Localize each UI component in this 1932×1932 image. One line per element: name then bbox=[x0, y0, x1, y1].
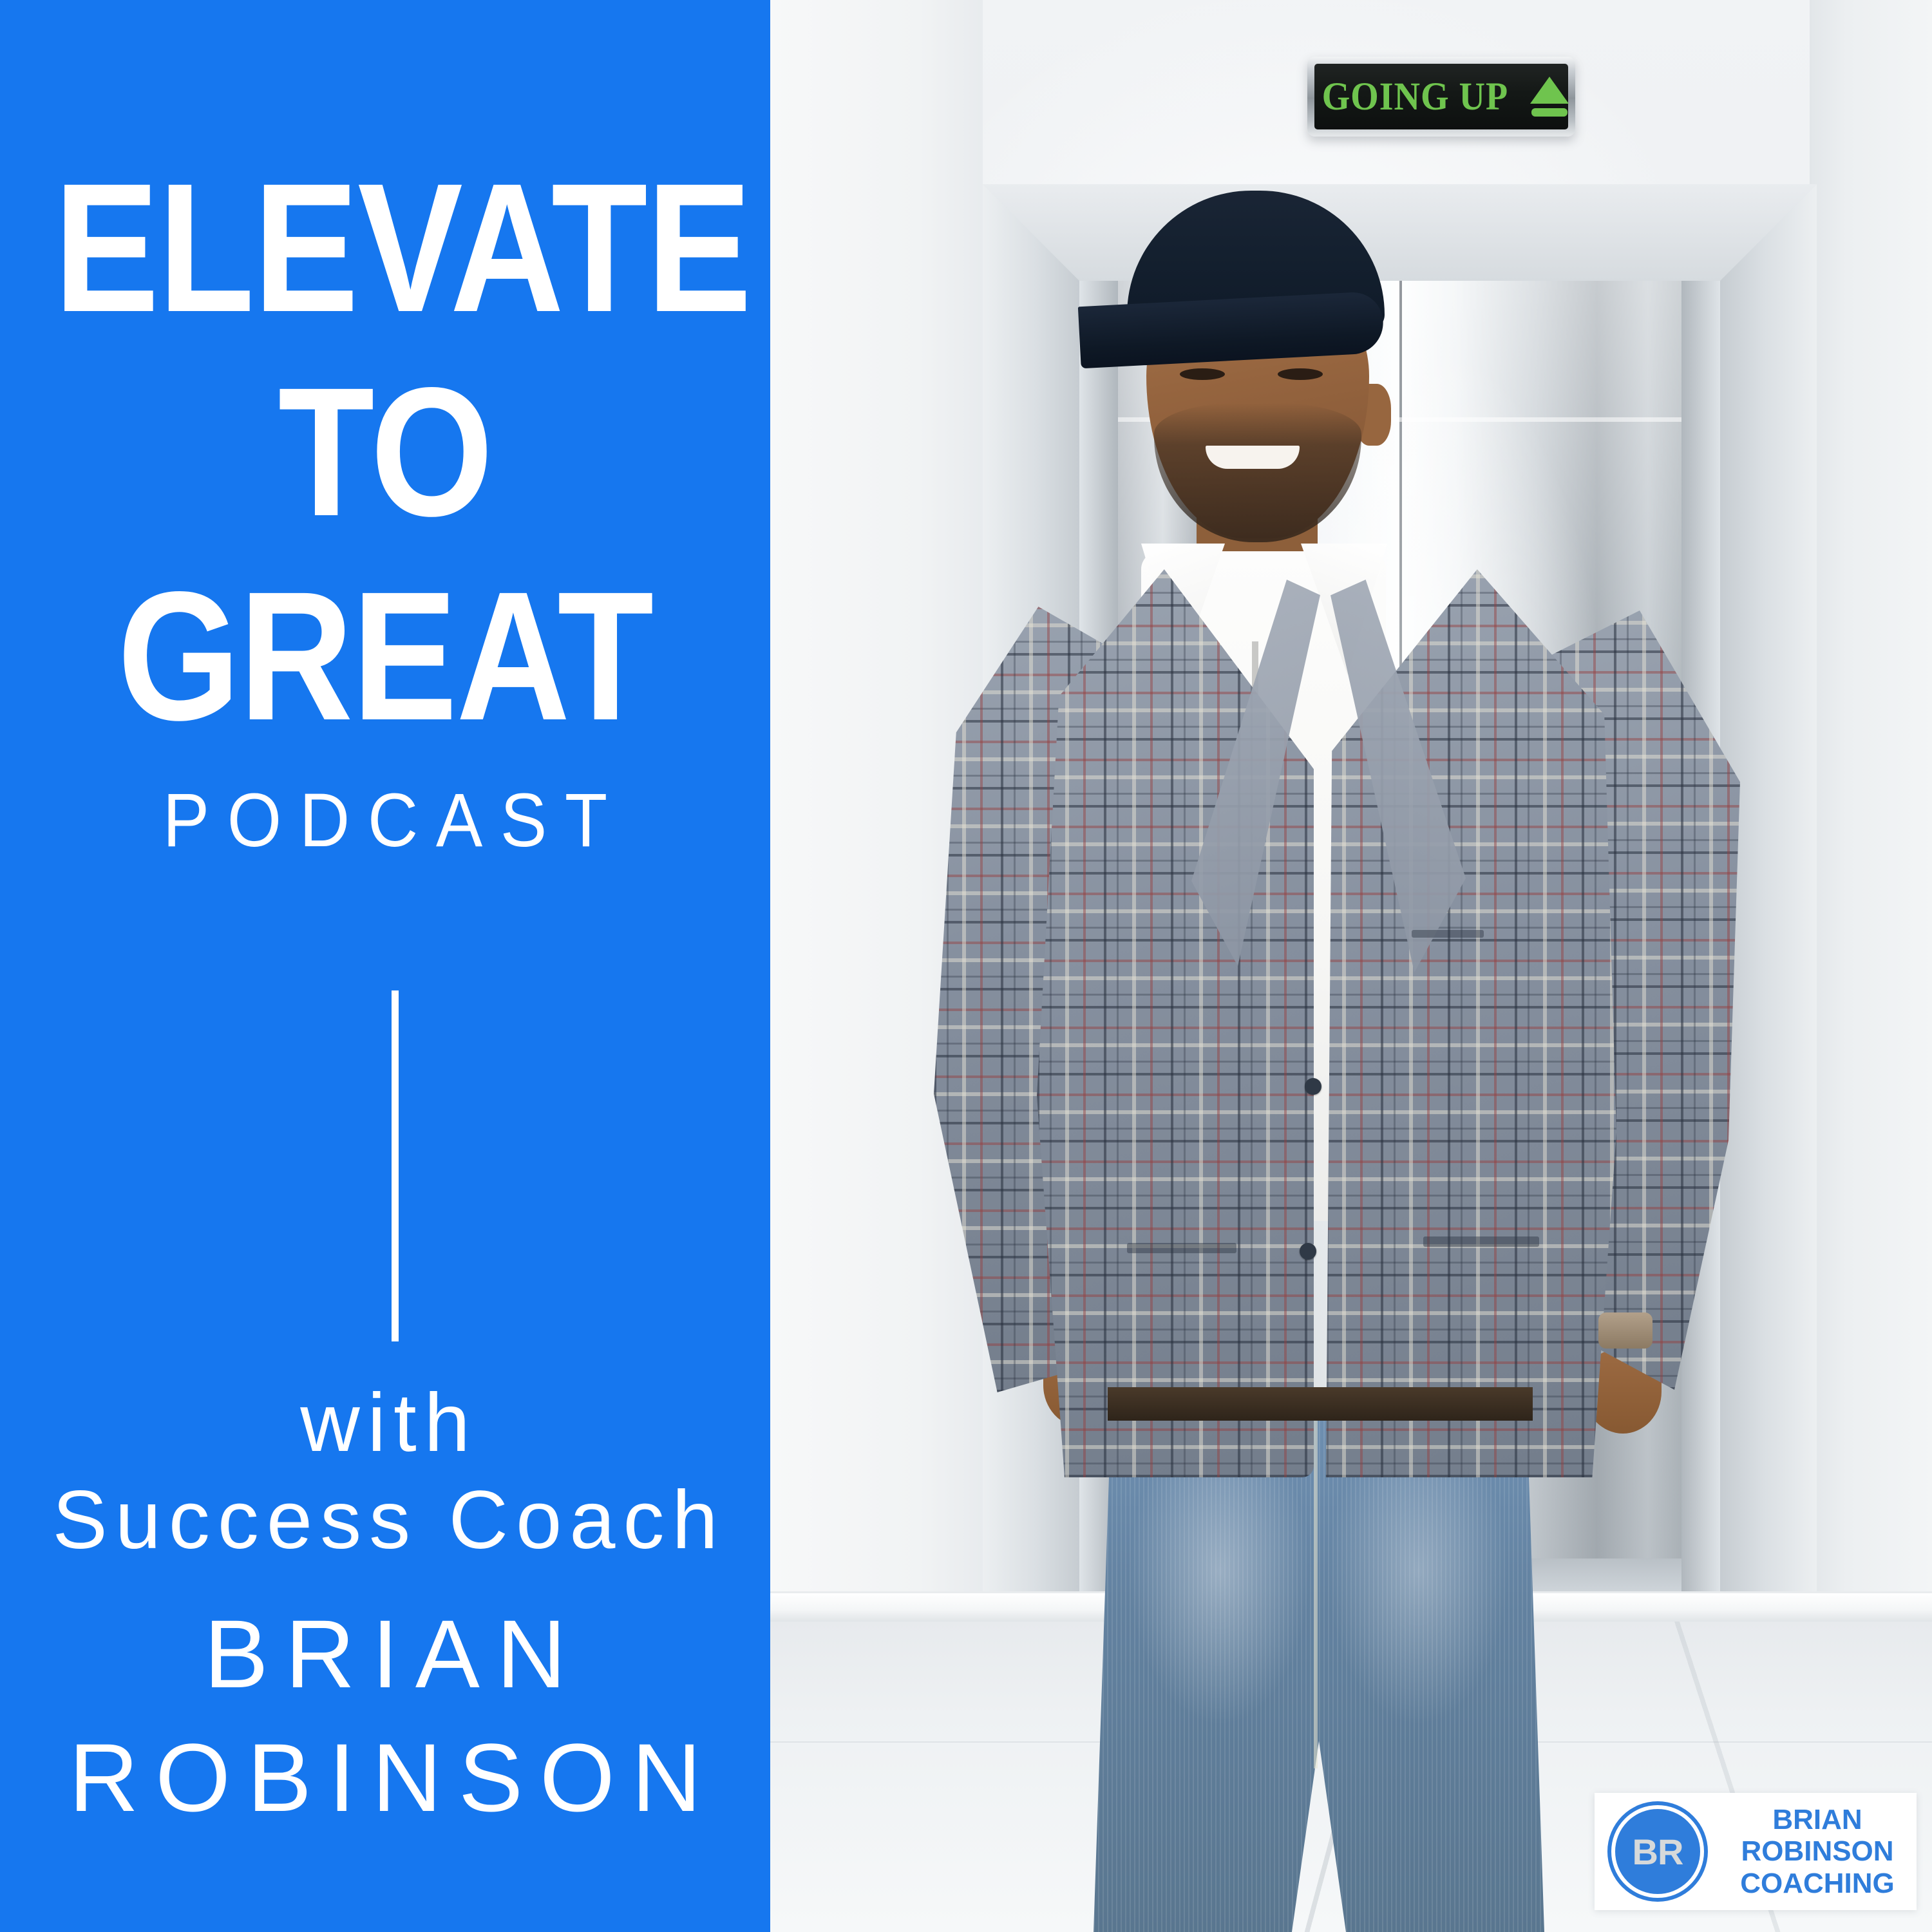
vertical-divider-rule bbox=[392, 990, 399, 1341]
title-subtitle-podcast: PODCAST bbox=[31, 777, 739, 864]
host-photo-figure bbox=[914, 191, 1739, 1932]
logo-monogram-text: BR bbox=[1633, 1831, 1683, 1873]
plaid-blazer bbox=[934, 569, 1719, 1490]
eye-left bbox=[1180, 368, 1225, 380]
sign-display-screen: GOING UP bbox=[1314, 64, 1568, 129]
byline-role: Success Coach bbox=[0, 1469, 770, 1572]
blazer-pocket-left bbox=[1127, 1243, 1236, 1253]
up-arrow-triangle bbox=[1530, 77, 1569, 104]
smile bbox=[1206, 446, 1300, 469]
logo-name-line-1: BRIAN ROBINSON bbox=[1718, 1804, 1917, 1868]
title-line-3: GREAT bbox=[54, 569, 717, 744]
byline-with: with bbox=[0, 1378, 770, 1469]
jeans-inseam bbox=[1314, 1408, 1318, 1768]
belt bbox=[1108, 1387, 1533, 1421]
blazer-breast-pocket bbox=[1412, 930, 1484, 938]
title-panel: ELEVATE TO GREAT PODCAST with Success Co… bbox=[0, 0, 770, 1932]
title-line-2: TO bbox=[54, 365, 717, 540]
byline-first-name: BRIAN bbox=[0, 1587, 770, 1721]
blazer-button bbox=[1305, 1078, 1321, 1095]
up-arrow-base-bar bbox=[1531, 108, 1567, 117]
logo-name-line-2: COACHING bbox=[1718, 1868, 1917, 1899]
eye-right bbox=[1278, 368, 1323, 380]
br-monogram-circle-icon: BR bbox=[1611, 1805, 1704, 1898]
podcast-cover-art: ELEVATE TO GREAT PODCAST with Success Co… bbox=[0, 0, 1932, 1932]
podcast-title-block: ELEVATE TO GREAT PODCAST bbox=[0, 161, 770, 864]
host-byline-block: with Success Coach BRIAN ROBINSON bbox=[0, 1378, 770, 1835]
title-line-1: ELEVATE bbox=[54, 161, 717, 336]
blazer-button bbox=[1300, 1243, 1316, 1260]
blazer-pocket-right bbox=[1423, 1236, 1539, 1247]
up-arrow-eject-icon bbox=[1530, 77, 1569, 117]
going-up-indicator-sign: GOING UP bbox=[1307, 57, 1575, 137]
going-up-label: GOING UP bbox=[1321, 77, 1508, 117]
lobby-wall-right bbox=[1810, 0, 1932, 1649]
beard bbox=[1154, 403, 1361, 542]
logo-wordmark: BRIAN ROBINSON COACHING bbox=[1718, 1804, 1917, 1899]
byline-last-name: ROBINSON bbox=[0, 1721, 770, 1835]
wristwatch bbox=[1598, 1312, 1653, 1349]
brand-logo-badge: BR BRIAN ROBINSON COACHING bbox=[1595, 1793, 1917, 1910]
